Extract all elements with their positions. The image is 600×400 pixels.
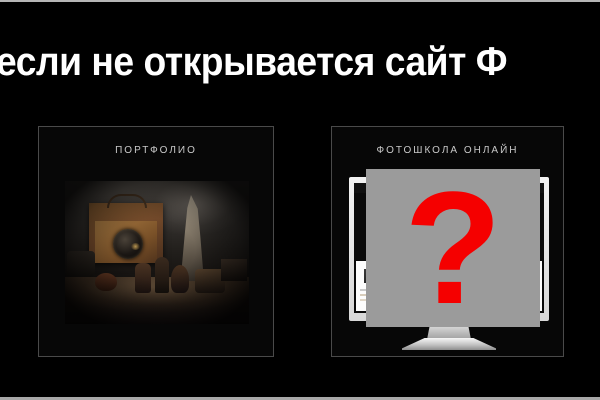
photo-film-reel <box>67 251 95 277</box>
card-portfolio-title: ПОРТФОЛИО <box>39 145 273 156</box>
photo-object-bottle-two <box>155 257 169 293</box>
question-mark-icon: ? <box>366 169 540 327</box>
card-photoschool-title: ФОТОШКОЛА ОНЛАЙН <box>332 145 563 156</box>
photo-object-bowl <box>95 273 117 291</box>
photo-object-box <box>221 259 247 281</box>
page-title: если не открывается сайт Ф <box>0 36 591 88</box>
photo-object-jug <box>171 265 189 293</box>
page-root: если не открывается сайт Ф ПОРТФОЛИО ФОТ… <box>0 0 600 400</box>
card-portfolio[interactable]: ПОРТФОЛИО <box>38 126 274 357</box>
photo-object-bottle-one <box>135 263 151 293</box>
page-top-edge-line <box>0 0 600 2</box>
portfolio-photo[interactable] <box>65 181 249 324</box>
card-photoschool[interactable]: ФОТОШКОЛА ОНЛАЙН ? <box>331 126 564 357</box>
photo-camera-handle <box>107 194 147 208</box>
photo-lens-glint <box>131 243 140 250</box>
monitor-stand-base <box>402 338 496 350</box>
